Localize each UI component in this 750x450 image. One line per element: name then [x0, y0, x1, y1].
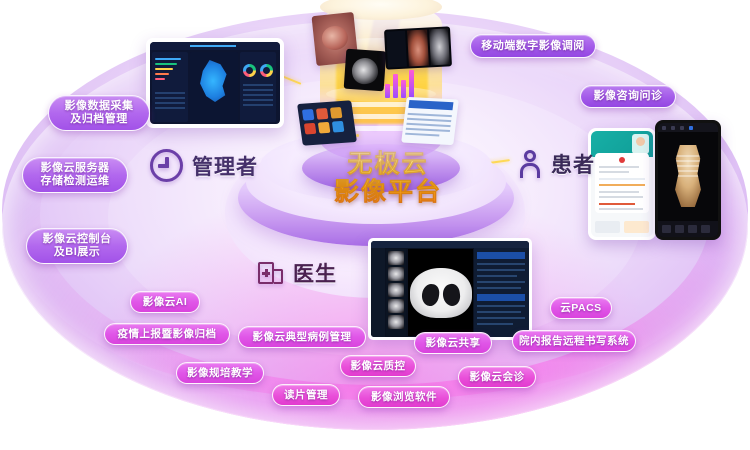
rib: [675, 175, 701, 177]
ct-chest-slice: [410, 268, 472, 318]
ct-panel-left: [386, 31, 407, 68]
dashboard-right-panel: [240, 52, 276, 122]
pill-doctor-viewer-software[interactable]: 影像浏览软件: [358, 386, 450, 408]
floating-ultrasound-screen: [344, 49, 387, 92]
tile: [316, 108, 329, 120]
bottom-icon: [701, 225, 710, 233]
data-row: [243, 104, 273, 106]
bottom-icon: [688, 225, 697, 233]
report-card: [595, 153, 649, 213]
spark: [356, 134, 359, 137]
medical-chart-icon: [258, 260, 284, 286]
ct-panel-mid: [407, 30, 429, 67]
bar: [401, 80, 406, 98]
bottom-icon: [662, 225, 671, 233]
tile: [302, 109, 315, 121]
tile: [330, 107, 343, 119]
pill-doctor-case-management[interactable]: 影像云典型病例管理: [238, 326, 366, 348]
pill-patient-consultation[interactable]: 影像咨询问诊: [580, 85, 676, 108]
role-doctor[interactable]: 医生: [258, 258, 337, 288]
pill-doctor-cloud-sharing[interactable]: 影像云共享: [414, 332, 492, 354]
thumbnail: [388, 251, 404, 265]
donut-chart: [260, 64, 273, 77]
toolbar-icon: [662, 126, 666, 130]
bar: [409, 70, 414, 98]
title-line-2: 影像平台: [318, 178, 458, 206]
data-row: [155, 97, 185, 99]
panel-line: [477, 269, 525, 271]
report-panel: [474, 248, 529, 337]
ct-image-viewport: [408, 249, 473, 336]
thumbnail: [388, 299, 404, 313]
doctor-ct-workstation: [368, 238, 532, 340]
dashboard-left-panel: [152, 52, 188, 122]
table-header-bar: [408, 100, 453, 110]
card-line: [599, 171, 629, 173]
table-line: [408, 113, 452, 117]
bar: [155, 78, 165, 80]
data-row: [155, 92, 185, 94]
rib: [675, 170, 701, 172]
role-label-administrator: 管理者: [192, 151, 258, 181]
china-map-shape: [196, 60, 230, 102]
floating-bar-chart: [381, 68, 421, 100]
bar: [155, 58, 181, 60]
pill-doctor-reading-management[interactable]: 读片管理: [272, 384, 340, 406]
card-line: [599, 208, 643, 210]
thumbnail: [388, 315, 404, 329]
data-row: [155, 102, 185, 104]
patient-3d-imaging-phone: [655, 120, 721, 240]
card-line: [599, 178, 645, 180]
floating-ct-screen: [384, 26, 452, 69]
pill-doctor-cloud-consultation[interactable]: 影像云会诊: [458, 366, 536, 388]
dashboard-header: [150, 42, 280, 50]
panel-line: [477, 305, 525, 307]
role-administrator[interactable]: 管理者: [150, 149, 258, 182]
person-icon: [518, 150, 542, 178]
data-row: [155, 107, 185, 109]
card-line: [599, 203, 635, 205]
page-title: 无极云 影像平台: [318, 150, 458, 206]
panel-line: [477, 263, 525, 265]
bar: [155, 63, 177, 65]
table-line: [405, 133, 439, 137]
dashboard-map-panel: [190, 52, 238, 122]
floating-app-grid-screen: [297, 100, 357, 145]
bar: [155, 73, 169, 75]
panel-line: [477, 323, 513, 325]
tablet-screen: [150, 42, 280, 124]
doctor-avatar-illustration: [632, 134, 649, 154]
panel-title-bar: [477, 252, 525, 259]
pill-admin-console-bi[interactable]: 影像云控制台 及BI展示: [26, 228, 128, 264]
bar: [385, 84, 390, 98]
tile: [318, 122, 331, 134]
phone-screen: [658, 123, 718, 237]
rib: [675, 165, 701, 167]
thumbnail: [388, 267, 404, 281]
workstation-tool-rail: [371, 248, 385, 337]
pill-doctor-epidemic-archive[interactable]: 疫情上报暨影像归档: [104, 323, 230, 345]
hospital-logo-icon: [619, 157, 625, 163]
ct-lung-right: [441, 282, 461, 306]
role-label-doctor: 医生: [293, 258, 337, 288]
viewer-toolbar: [658, 123, 718, 132]
series-thumbnails: [386, 249, 406, 336]
phone-screen: [591, 131, 653, 237]
toolbar-icon: [671, 126, 675, 130]
table-line: [406, 128, 450, 132]
rib: [675, 155, 701, 157]
card-line: [599, 184, 645, 186]
card-line: [599, 166, 639, 168]
floating-table-screen: [401, 97, 459, 145]
panel-line: [477, 275, 517, 277]
phone-action-bar: [595, 221, 649, 233]
panel-line: [477, 311, 521, 313]
toolbar-icon: [689, 126, 693, 130]
plus-circle-icon: [150, 149, 183, 182]
workstation-screen: [371, 241, 529, 337]
rib: [675, 160, 701, 162]
3d-skeleton-render: [671, 145, 705, 207]
panel-line: [477, 287, 521, 289]
action-button[interactable]: [595, 221, 620, 233]
card-line: [599, 191, 639, 193]
pill-patient-mobile-viewing[interactable]: 移动端数字影像调阅: [470, 34, 596, 58]
pill-doctor-ai[interactable]: 影像云AI: [130, 291, 200, 313]
role-patient[interactable]: 患者: [518, 149, 595, 179]
pill-admin-data-collection[interactable]: 影像数据采集 及归档管理: [48, 95, 150, 131]
pill-doctor-cloud-pacs[interactable]: 云PACS: [550, 297, 612, 319]
data-row: [243, 89, 273, 91]
pill-admin-server-ops[interactable]: 影像云服务器 存储检测运维: [22, 157, 128, 193]
admin-bi-tablet: [146, 38, 284, 128]
data-row: [243, 94, 273, 96]
donut-chart: [243, 64, 256, 77]
viewer-bottom-bar: [658, 221, 718, 237]
title-line-1: 无极云: [318, 150, 458, 178]
data-row: [243, 84, 273, 86]
workstation-toolbar: [371, 241, 529, 248]
pill-doctor-quality-control[interactable]: 影像云质控: [340, 355, 416, 377]
bar: [155, 68, 173, 70]
panel-subtitle-bar: [477, 294, 525, 301]
toolbar-icon: [680, 126, 684, 130]
table-line: [406, 123, 450, 127]
tile: [304, 123, 317, 135]
bar: [393, 74, 398, 98]
ct-lung-left: [420, 282, 440, 306]
thumbnail: [388, 283, 404, 297]
table-line: [407, 118, 451, 122]
infographic-canvas: 无极云 影像平台 管理者 患者 医生 影像数据采集 及归档管理 影像云服务器 存…: [0, 0, 750, 450]
pill-doctor-training-education[interactable]: 影像规培教学: [176, 362, 264, 384]
card-line: [599, 196, 643, 198]
panel-line: [477, 281, 525, 283]
role-label-patient: 患者: [551, 149, 595, 179]
pill-doctor-remote-reporting[interactable]: 院内报告远程书写系统: [512, 330, 636, 352]
ct-panel-right: [429, 28, 450, 65]
action-button[interactable]: [624, 221, 649, 233]
bottom-icon: [675, 225, 684, 233]
data-row: [243, 99, 273, 101]
panel-line: [477, 317, 525, 319]
patient-report-phone: [588, 128, 656, 240]
tile: [332, 121, 345, 133]
